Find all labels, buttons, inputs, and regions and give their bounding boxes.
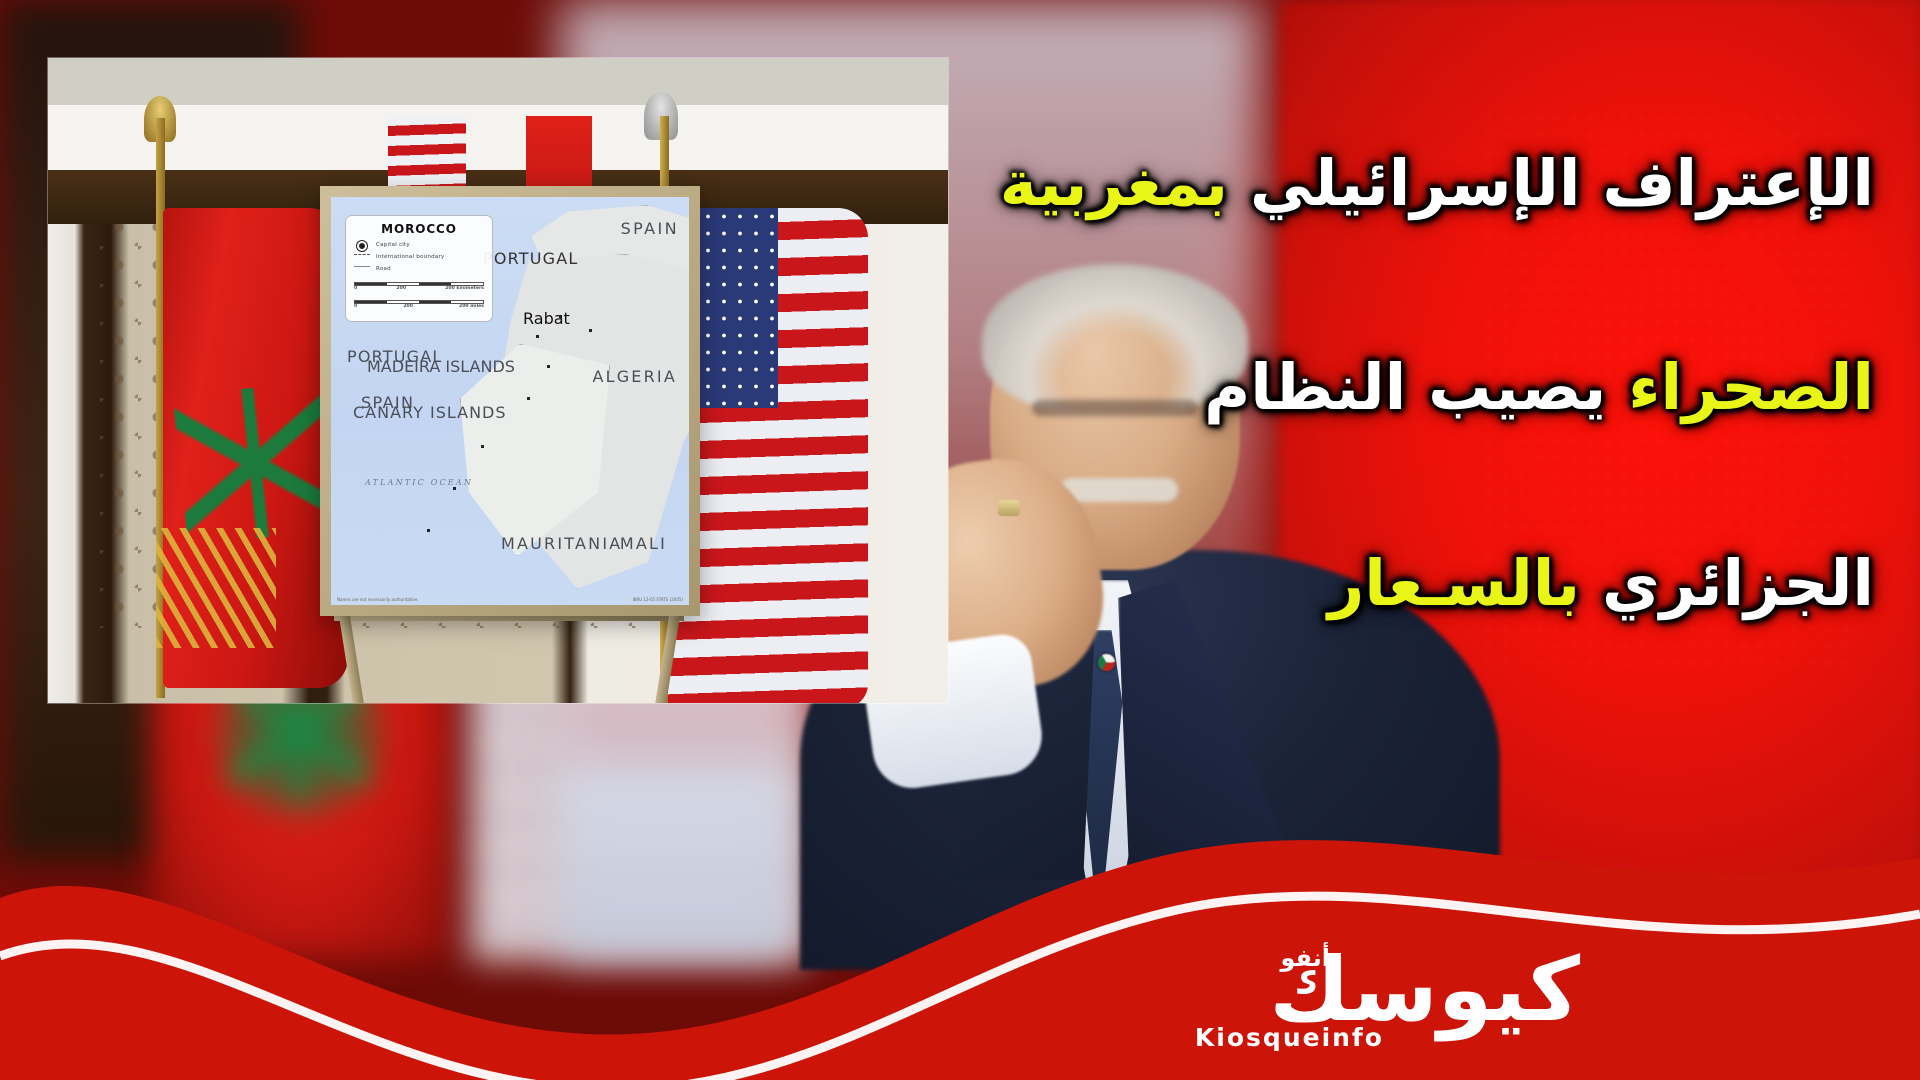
headline-line-2-yellow: الصحراء	[1628, 351, 1874, 424]
scale-mi-mid: 200	[403, 305, 413, 310]
scale-ticks-mi: 0 200 200 miles	[354, 305, 484, 310]
map-label-atlantic-ocean: ATLANTIC OCEAN	[365, 479, 473, 487]
map-label-algeria: ALGERIA	[592, 367, 677, 386]
legend-row-road: Road	[354, 266, 484, 274]
map-canvas: SPAIN PORTUGAL ALGERIA MAURITANIA MALI A…	[331, 197, 689, 605]
map-city-dot-icon	[547, 365, 550, 368]
headline-line-2-white: يصيب النظام	[1204, 351, 1606, 424]
headline-line-3-yellow: بالسـعار	[1328, 547, 1580, 620]
scale-ticks-km: 0 200 200 kilometers	[354, 287, 484, 292]
map-city-dot-icon	[481, 445, 484, 448]
map-scale-km: 0 200 200 kilometers	[354, 282, 484, 292]
legend-label-boundary: International boundary	[376, 255, 445, 261]
map-label-spain: SPAIN	[621, 219, 679, 238]
map-city-dot-icon	[453, 487, 456, 490]
map-label-canary: CANARY ISLANDS	[353, 403, 507, 422]
inset-morocco-star-icon	[173, 381, 338, 546]
map-label-mauritania: MAURITANIA	[501, 534, 622, 553]
scale-km-right: 200 kilometers	[445, 287, 484, 292]
map-label-madeira: MADEIRA ISLANDS	[367, 357, 515, 376]
scale-km-mid: 200	[396, 287, 406, 292]
algeria-flag-pin-icon	[1098, 654, 1115, 671]
map-label-mali: MALI	[620, 534, 667, 553]
scale-km-left: 0	[354, 287, 357, 292]
legend-row-boundary: International boundary	[354, 254, 484, 262]
morocco-map-board: SPAIN PORTUGAL ALGERIA MAURITANIA MALI A…	[320, 186, 700, 616]
map-city-dot-icon	[589, 329, 592, 332]
wave-fill	[0, 840, 1920, 1080]
headline-line-1-yellow: بمغربية	[1000, 147, 1228, 220]
scale-mi-right: 200 miles	[459, 305, 484, 310]
news-banner: SPAIN PORTUGAL ALGERIA MAURITANIA MALI A…	[0, 0, 1920, 1080]
map-city-dot-icon	[427, 529, 430, 532]
map-city-dot-icon	[527, 397, 530, 400]
headline: الإعتراف الإسرائيلي بمغربية الصحراء يصيب…	[754, 150, 1874, 618]
wave-shape	[0, 780, 1920, 1080]
bottom-wave-band	[0, 780, 1920, 1080]
map-legend: MOROCCO Capital city International bound…	[345, 215, 493, 322]
logo-latin-wordmark: Kiosqueinfo	[1195, 1023, 1384, 1052]
map-footnote: Names are not necessarily authoritative.	[337, 598, 419, 602]
headline-line-2: الصحراء يصيب النظام	[754, 354, 1874, 422]
headline-line-3-white: الجزائري	[1602, 547, 1874, 620]
logo-arabic-superscript: أنفو	[1280, 944, 1330, 972]
map-capital-dot-icon	[559, 315, 562, 318]
headline-line-1-white: الإعتراف الإسرائيلي	[1250, 147, 1874, 220]
map-label-portugal: PORTUGAL	[483, 249, 579, 268]
inset-flag-cord-left	[156, 528, 276, 648]
scale-mi-left: 0	[354, 305, 357, 310]
road-line-icon	[354, 266, 370, 274]
legend-label-road: Road	[376, 267, 391, 273]
map-label-rabat: Rabat	[523, 309, 570, 328]
map-scale-mi: 0 200 200 miles	[354, 300, 484, 310]
map-source-code: IBRU 13-05 STATE (2005)	[633, 598, 683, 602]
legend-row-capital: Capital city	[354, 242, 484, 250]
headline-line-1: الإعتراف الإسرائيلي بمغربية	[754, 150, 1874, 218]
scale-bar-mi	[354, 300, 484, 304]
capital-city-dot-icon	[354, 242, 370, 250]
headline-line-3: الجزائري بالسـعار	[754, 550, 1874, 618]
legend-label-capital: Capital city	[376, 243, 410, 249]
map-legend-title: MOROCCO	[354, 223, 484, 235]
site-logo[interactable]: كيوسك أنفو Kiosqueinfo	[1160, 908, 1580, 1058]
map-city-dot-icon	[536, 335, 539, 338]
international-boundary-dash-icon	[354, 254, 370, 262]
